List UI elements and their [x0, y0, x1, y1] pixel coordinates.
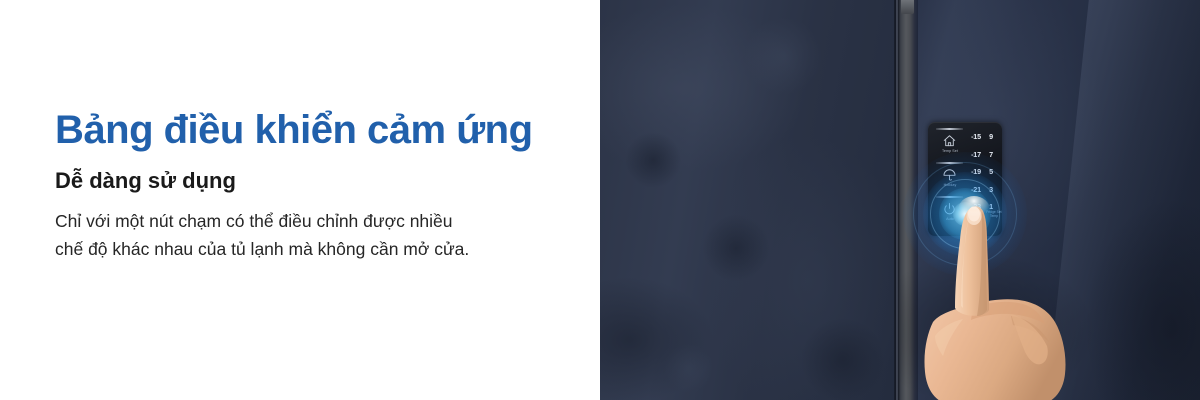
fridge-temp-value[interactable]: 7: [984, 146, 998, 164]
freezer-temp-value[interactable]: -17: [968, 146, 984, 164]
page-title: Bảng điều khiển cảm ứng: [55, 108, 533, 152]
home-icon: [942, 134, 957, 148]
subtitle: Dễ dàng sử dụng: [55, 168, 236, 194]
pointing-hand: [915, 196, 1075, 400]
mode-temp-set[interactable]: Temp Set: [933, 128, 967, 162]
fridge-temp-value[interactable]: 9: [984, 128, 998, 146]
feature-banner: Bảng điều khiển cảm ứng Dễ dàng sử dụng …: [0, 0, 1200, 400]
mode-holiday[interactable]: Holiday: [933, 162, 967, 196]
body-line-2: chế độ khác nhau của tủ lạnh mà không cầ…: [55, 235, 555, 263]
fingertip-glow: [958, 196, 990, 224]
mode-divider: [936, 162, 963, 164]
freezer-temp-value[interactable]: -19: [968, 163, 984, 181]
umbrella-icon: [942, 168, 957, 182]
mode-temp-set-label: Temp Set: [933, 149, 967, 153]
body-line-1: Chỉ với một nút chạm có thể điều chỉnh đ…: [55, 207, 555, 235]
fridge-door-left: [600, 0, 896, 400]
fridge-temp-value[interactable]: 5: [984, 163, 998, 181]
mode-divider: [936, 128, 963, 130]
fridge-seam-highlight: [896, 0, 898, 400]
text-pane: Bảng điều khiển cảm ứng Dễ dàng sử dụng …: [0, 0, 600, 400]
body-copy: Chỉ với một nút chạm có thể điều chỉnh đ…: [55, 207, 555, 264]
mode-holiday-label: Holiday: [933, 183, 967, 187]
product-photo: Temp Set Holiday: [600, 0, 1200, 400]
fridge-seam-cap: [901, 0, 914, 14]
freezer-temp-value[interactable]: -15: [968, 128, 984, 146]
